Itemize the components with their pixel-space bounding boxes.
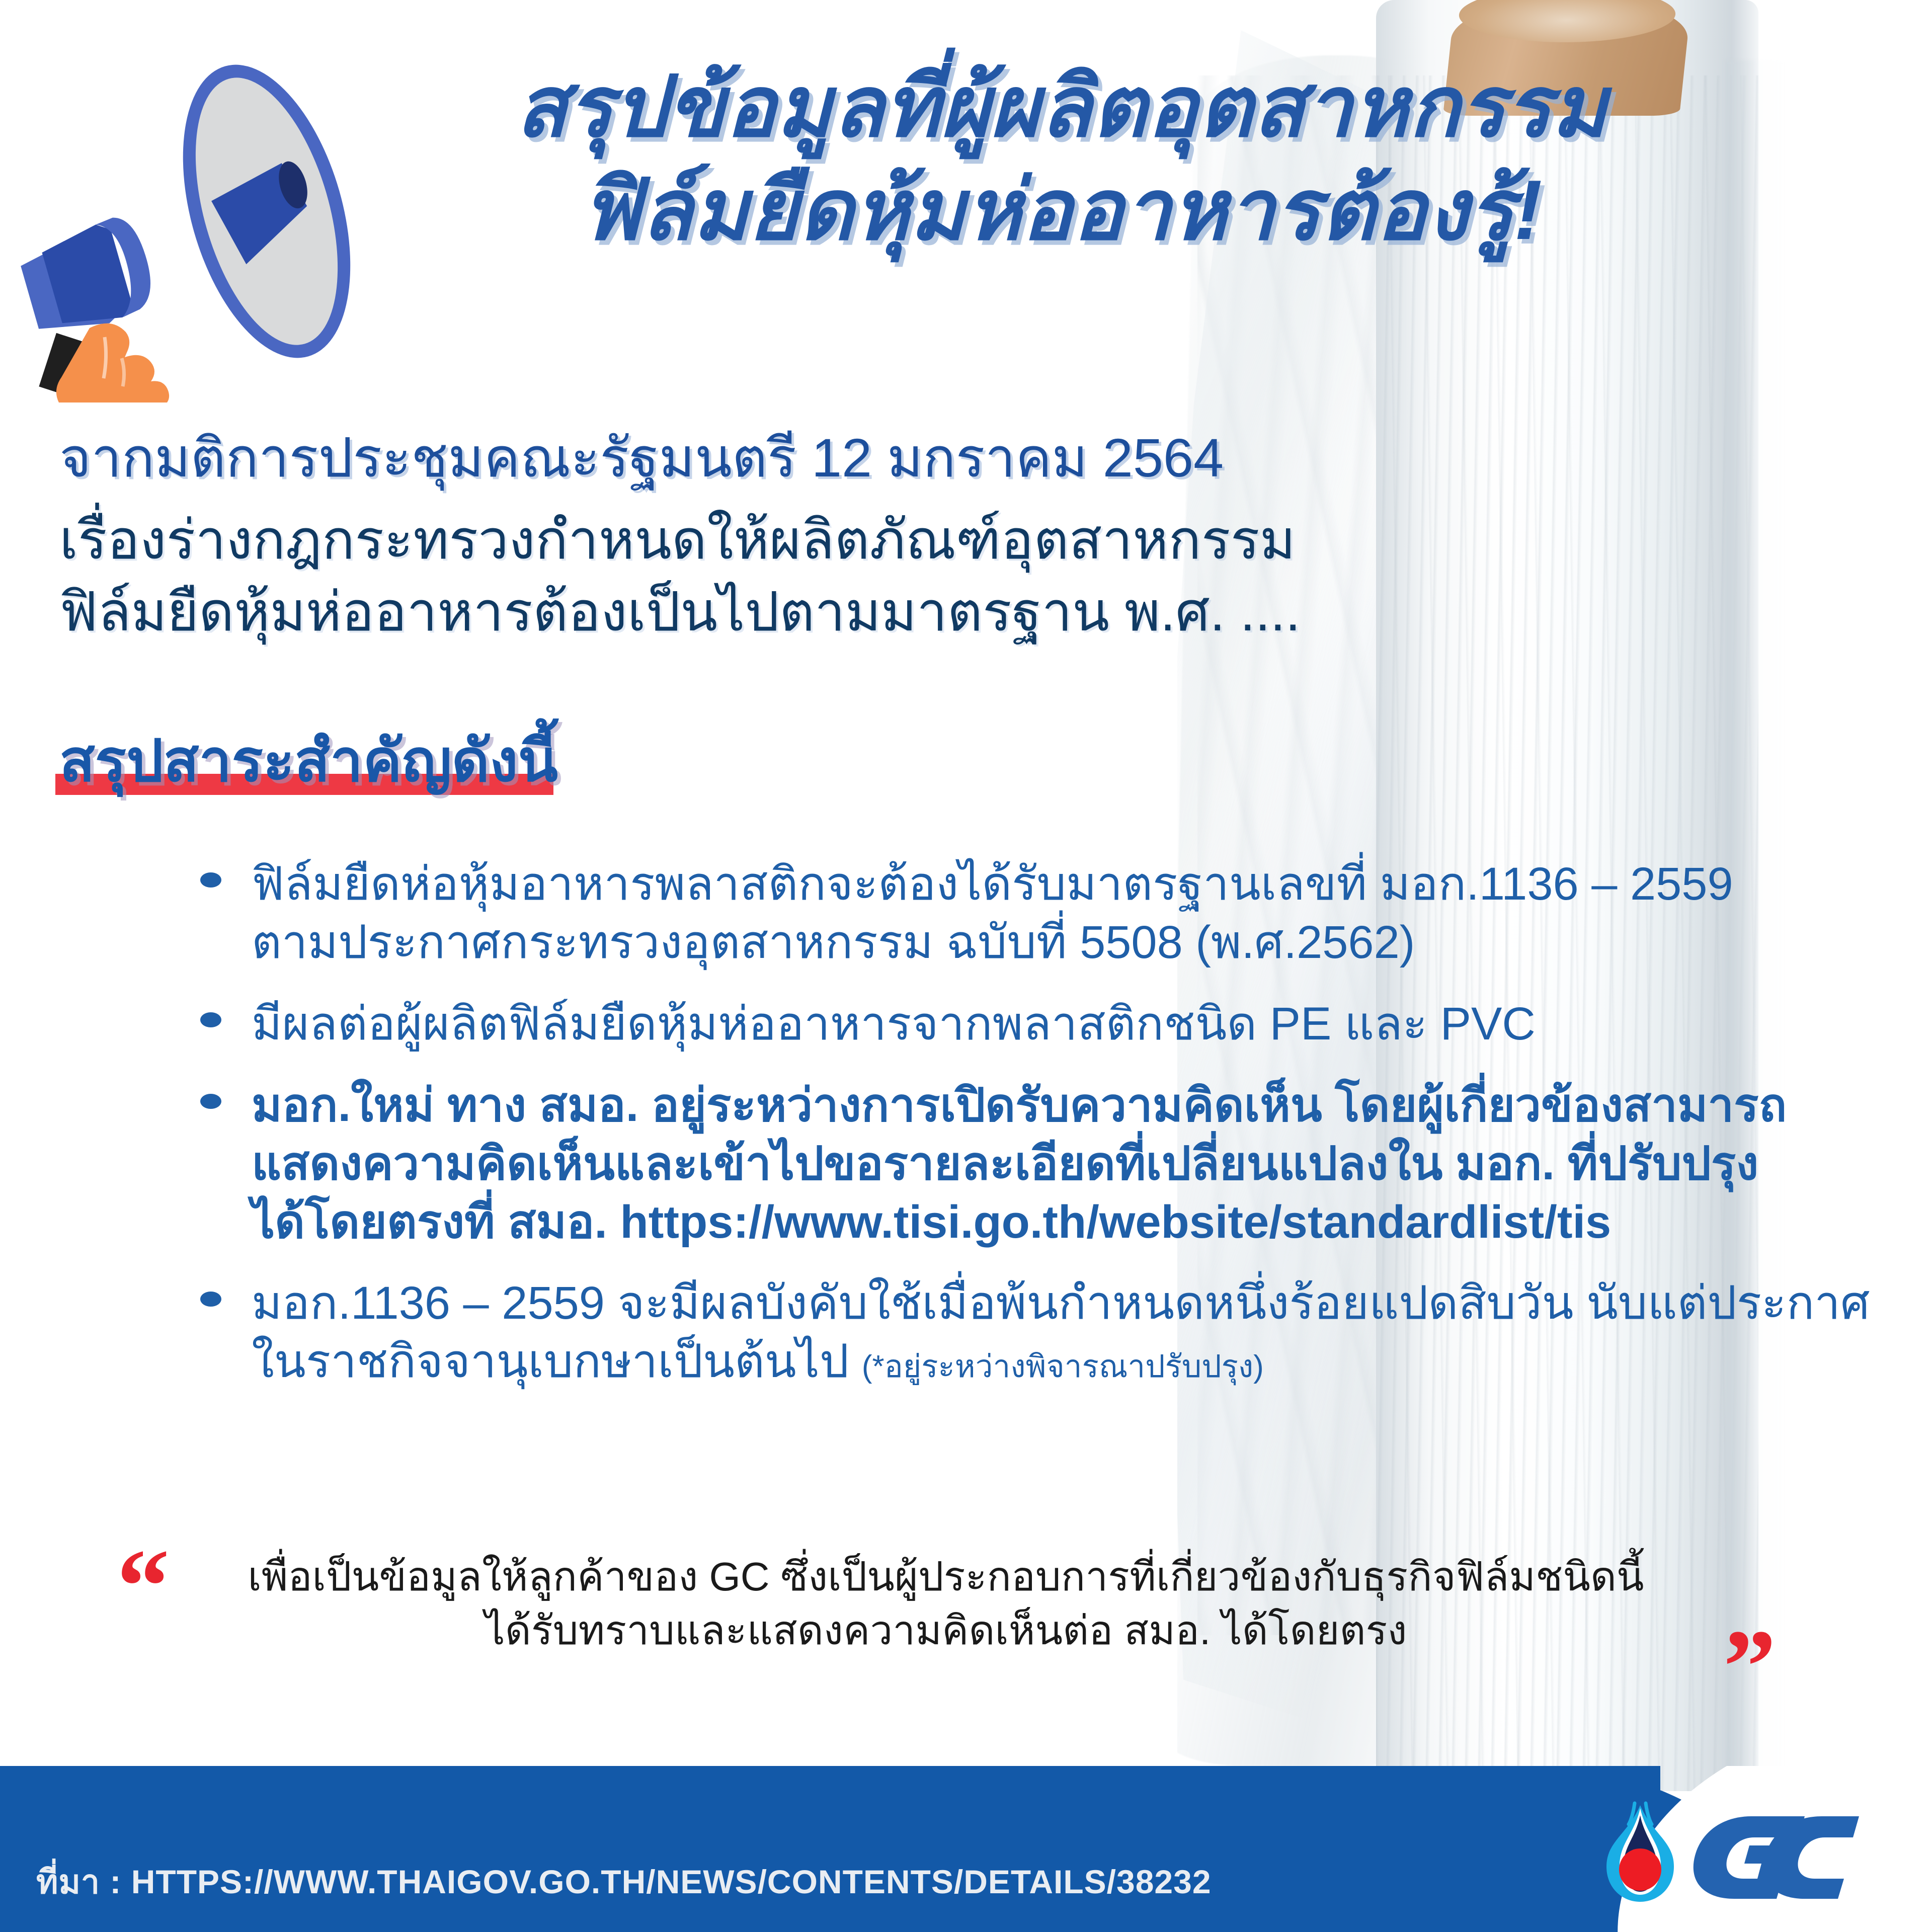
bullet-4-line-2: ในราชกิจจานุเบกษาเป็นต้นไป (*อยู่ระหว่าง… <box>252 1333 1791 1391</box>
quote-open-icon: “ <box>117 1555 170 1618</box>
bullet-dot-icon <box>200 872 221 888</box>
source-url-text[interactable]: ที่มา : HTTPS://WWW.THAIGOV.GO.TH/NEWS/C… <box>36 1856 1212 1908</box>
bullet-1-line-2: ตามประกาศกระทรวงอุตสาหกรรม ฉบับที่ 5508 … <box>252 914 1791 972</box>
megaphone-icon <box>5 20 408 403</box>
bullet-dot-icon <box>200 1292 221 1307</box>
bullet-dot-icon <box>200 1012 221 1027</box>
list-item: มอก.ใหม่ ทาง สมอ. อยู่ระหว่างการเปิดรับค… <box>191 1077 1791 1252</box>
list-item: มอก.1136 – 2559 จะมีผลบังคับใช้เมื่อพ้นก… <box>191 1274 1791 1391</box>
intro-paragraph: จากมติการประชุมคณะรัฐมนตรี 12 มกราคม 256… <box>59 423 1418 648</box>
page-title: สรุปข้อมูลที่ผู้ผลิตอุตสาหกรรม ฟิล์มยืดห… <box>382 55 1741 262</box>
quote-callout: “ ” เพื่อเป็นข้อมูลให้ลูกค้าของ GC ซึ่งเ… <box>126 1550 1766 1657</box>
bullet-3-line-3-url[interactable]: ได้โดยตรงที่ สมอ. https://www.tisi.go.th… <box>252 1193 1791 1252</box>
cardboard-core-top <box>1456 0 1678 42</box>
bullet-4-footnote: (*อยู่ระหว่างพิจารณาปรับปรุง) <box>862 1349 1264 1384</box>
bullet-1-line-1: ฟิล์มยืดห่อหุ้มอาหารพลาสติกจะต้องได้รับม… <box>252 855 1791 914</box>
quote-line-2: ได้รับทราบและแสดงความคิดเห็นต่อ สมอ. ได้… <box>126 1603 1766 1657</box>
bullet-4-main: ในราชกิจจานุเบกษาเป็นต้นไป <box>252 1336 862 1387</box>
intro-line-1: จากมติการประชุมคณะรัฐมนตรี 12 มกราคม 256… <box>59 423 1418 493</box>
bullet-4-line-1: มอก.1136 – 2559 จะมีผลบังคับใช้เมื่อพ้นก… <box>252 1274 1791 1333</box>
title-line-2: ฟิล์มยืดหุ้มห่ออาหารต้องรู้! <box>382 158 1741 262</box>
section-heading-text: สรุปสาระสำคัญดังนี้ <box>59 714 558 807</box>
title-line-1: สรุปข้อมูลที่ผู้ผลิตอุตสาหกรรม <box>382 55 1741 158</box>
footer-bar: ที่มา : HTTPS://WWW.THAIGOV.GO.TH/NEWS/C… <box>0 1766 1932 1932</box>
intro-line-3: ฟิล์มยืดหุ้มห่ออาหารต้องเป็นไปตามมาตรฐาน… <box>59 576 1418 648</box>
bullet-3-line-1: มอก.ใหม่ ทาง สมอ. อยู่ระหว่างการเปิดรับค… <box>252 1077 1791 1135</box>
list-item: ฟิล์มยืดห่อหุ้มอาหารพลาสติกจะต้องได้รับม… <box>191 855 1791 972</box>
quote-line-1: เพื่อเป็นข้อมูลให้ลูกค้าของ GC ซึ่งเป็นผ… <box>126 1550 1766 1603</box>
section-heading: สรุปสาระสำคัญดังนี้ <box>59 714 558 807</box>
bullet-2-line-1: มีผลต่อผู้ผลิตฟิล์มยืดหุ้มห่ออาหารจากพลา… <box>252 995 1791 1054</box>
gc-logo <box>1597 1795 1879 1903</box>
key-points-list: ฟิล์มยืดห่อหุ้มอาหารพลาสติกจะต้องได้รับม… <box>191 855 1791 1414</box>
intro-line-2: เรื่องร่างกฎกระทรวงกำหนดให้ผลิตภัณฑ์อุตส… <box>59 504 1418 576</box>
quote-close-icon: ” <box>1723 1635 1776 1699</box>
list-item: มีผลต่อผู้ผลิตฟิล์มยืดหุ้มห่ออาหารจากพลา… <box>191 995 1791 1054</box>
bullet-3-line-2: แสดงความคิดเห็นและเข้าไปขอรายละเอียดที่เ… <box>252 1135 1791 1193</box>
bullet-dot-icon <box>200 1094 221 1109</box>
